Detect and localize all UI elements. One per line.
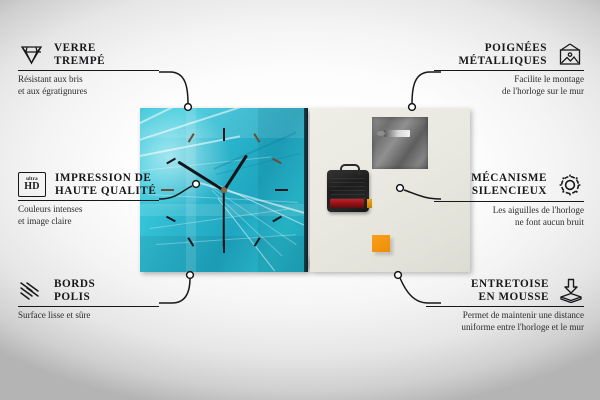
gear-icon: [556, 172, 584, 198]
callout-title: MÉCANISME: [471, 172, 547, 185]
callout-sub-1: Les aiguilles de l'horloge: [414, 205, 584, 216]
battery: [330, 199, 364, 208]
callout-rule: [434, 70, 584, 71]
callout-rule: [426, 306, 584, 307]
picture-hanger-icon: [556, 43, 584, 67]
quartz-movement: [327, 170, 369, 212]
callout-sub-1: Facilite le montage: [414, 74, 584, 85]
foam-spacer-arrow-icon: [558, 278, 584, 303]
callout-title-2: EN MOUSSE: [471, 291, 549, 304]
callout-rule: [18, 200, 159, 201]
glass-panel-edge: [304, 108, 308, 272]
callout-verre-trempe: VERRE TREMPÉ Résistant aux bris et aux é…: [18, 42, 186, 97]
callout-rule: [18, 70, 159, 71]
battery-terminal: [367, 199, 372, 208]
polished-edges-icon: [18, 280, 45, 302]
metal-hanger-plate: [372, 117, 428, 169]
ultra-hd-icon-main: HD: [24, 182, 40, 192]
callout-title: IMPRESSION DE: [55, 172, 156, 185]
ultra-hd-icon: ultra HD: [18, 172, 46, 197]
callout-sub-2: et aux égratignures: [18, 86, 186, 97]
diamond-gem-icon: [18, 43, 45, 67]
callout-sub-1: Résistant aux bris: [18, 74, 186, 85]
callout-title-2: SILENCIEUX: [471, 185, 547, 198]
callout-entretoise-en-mousse: ENTRETOISE EN MOUSSE Permet de maintenir…: [414, 278, 584, 333]
callout-title-2: HAUTE QUALITÉ: [55, 185, 156, 198]
movement-hook: [340, 164, 360, 175]
second-hand: [223, 190, 225, 246]
callout-title-2: MÉTALLIQUES: [458, 55, 547, 68]
callout-poignees-metalliques: POIGNÉES MÉTALLIQUES Facilite le montage…: [414, 42, 584, 97]
callout-sub-2: de l'horloge sur le mur: [414, 86, 584, 97]
callout-sub-1: Couleurs intenses: [18, 204, 186, 215]
callout-rule: [18, 306, 159, 307]
callout-rule: [434, 201, 584, 202]
foam-spacer: [372, 235, 390, 252]
callout-title: BORDS: [54, 278, 95, 291]
callout-sub-2: ne font aucun bruit: [414, 217, 584, 228]
callout-title-2: TREMPÉ: [54, 55, 105, 68]
callout-mecanisme-silencieux: MÉCANISME SILENCIEUX Les aiguilles de l'…: [414, 172, 584, 228]
callout-title: POIGNÉES: [458, 42, 547, 55]
hanger-slot: [384, 130, 410, 137]
movement-texture: [331, 175, 365, 199]
callout-sub-2: et image claire: [18, 216, 186, 227]
callout-bords-polis: BORDS POLIS Surface lisse et sûre: [18, 278, 186, 322]
infographic-canvas: VERRE TREMPÉ Résistant aux bris et aux é…: [0, 0, 600, 400]
callout-sub-1: Permet de maintenir une distance: [414, 310, 584, 321]
clock-hub: [221, 187, 227, 193]
callout-impression-hd: ultra HD IMPRESSION DE HAUTE QUALITÉ Cou…: [18, 172, 186, 227]
callout-sub-1: Surface lisse et sûre: [18, 310, 186, 321]
callout-title: VERRE: [54, 42, 105, 55]
callout-title: ENTRETOISE: [471, 278, 549, 291]
callout-title-2: POLIS: [54, 291, 95, 304]
callout-sub-2: uniforme entre l'horloge et le mur: [414, 322, 584, 333]
